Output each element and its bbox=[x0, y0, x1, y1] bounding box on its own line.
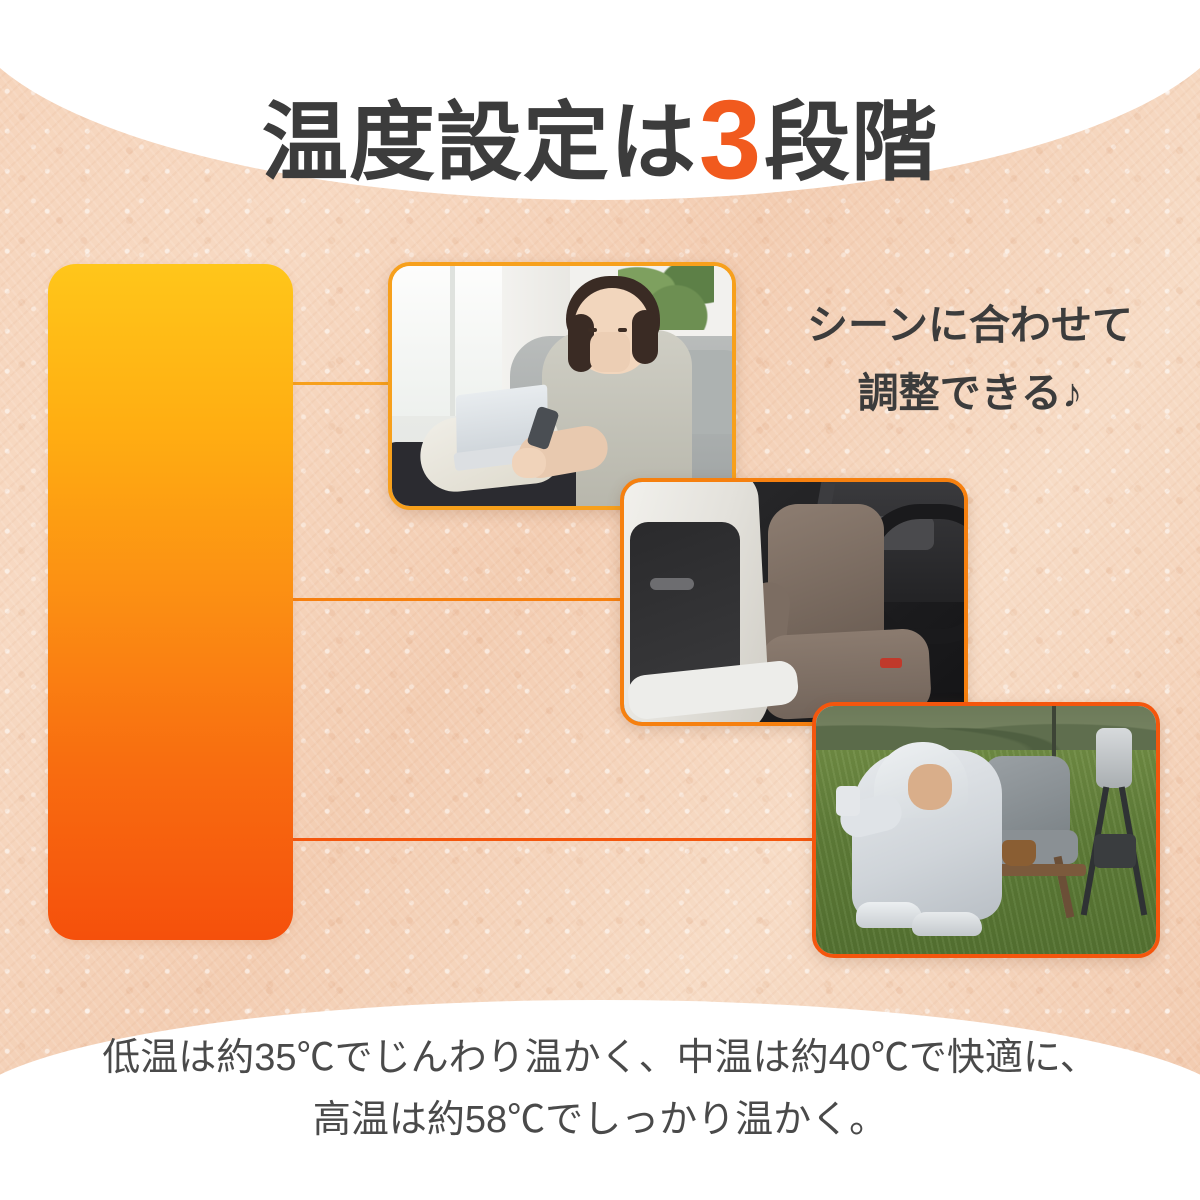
bottom-caption: 低温は約35℃でじんわり温かく、中温は約40℃で快適に、 高温は約58℃でしっか… bbox=[0, 1028, 1200, 1151]
photo-indoor-sofa bbox=[388, 262, 736, 510]
photo-car-seat bbox=[620, 478, 968, 726]
side-caption-line-1: シーンに合わせて bbox=[760, 292, 1180, 360]
page-title: 温度設定は3段階 bbox=[0, 84, 1200, 196]
connector-line-mid bbox=[276, 598, 641, 601]
side-caption-line-2: 調整できる♪ bbox=[760, 360, 1180, 428]
photo-outdoor-camping-image bbox=[816, 706, 1156, 954]
connector-line-low bbox=[276, 382, 406, 385]
temperature-gradient-bar bbox=[48, 264, 293, 940]
bottom-caption-line-1: 低温は約35℃でじんわり温かく、中温は約40℃で快適に、 bbox=[102, 1037, 1097, 1079]
side-caption: シーンに合わせて 調整できる♪ bbox=[760, 292, 1180, 427]
photo-indoor-sofa-image bbox=[392, 266, 732, 506]
connector-line-high bbox=[276, 838, 846, 841]
page-title-suffix: 段階 bbox=[764, 95, 938, 191]
promo-page: 温度設定は3段階 35℃ 40℃ 58℃ bbox=[0, 0, 1200, 1200]
page-title-number: 3 bbox=[699, 77, 762, 202]
photo-outdoor-camping bbox=[812, 702, 1160, 958]
bottom-caption-line-2: 高温は約58℃でしっかり温かく。 bbox=[0, 1090, 1200, 1152]
page-title-prefix: 温度設定は bbox=[262, 95, 697, 191]
photo-car-seat-image bbox=[624, 482, 964, 722]
